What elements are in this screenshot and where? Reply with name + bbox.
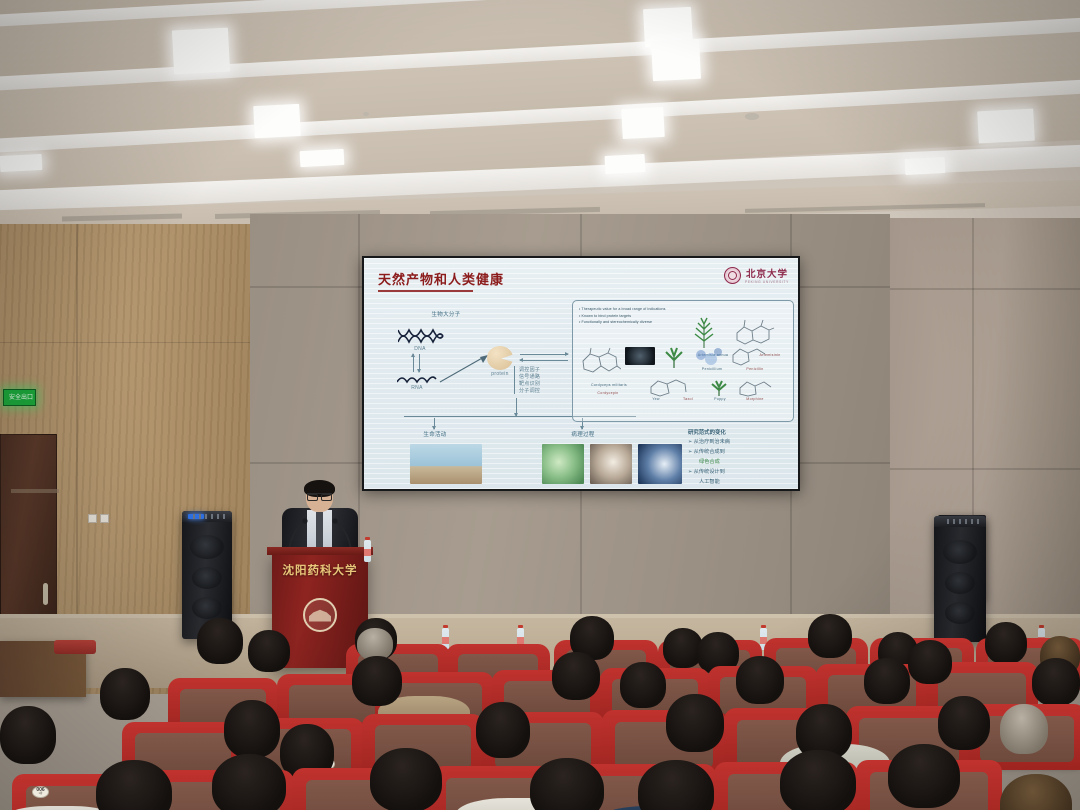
seat-row: 1排 [38,793,42,796]
seat-number-badge: 006 1排 [32,786,49,798]
audience-head [1032,658,1080,706]
slide-title-underline [378,290,473,292]
paradigm-item-text: 绿色合成 [699,458,720,465]
speaker-cone [943,540,977,564]
paradigm-heading: 研究范式的变化 [688,428,726,436]
door-plate [11,489,59,493]
chevron-bullet-icon: ➢ [688,449,692,455]
ceiling-light-panel [621,107,665,139]
source-organism-label: Cordyceps militaris [575,383,643,387]
audience-head [736,656,784,704]
dna-helix-icon [398,328,444,344]
auditorium-door[interactable] [0,434,57,634]
ceiling-sprinkler [363,112,369,116]
ceiling-light-panel [172,28,230,75]
paradigm-item-text: 从传统设计到 [694,469,725,475]
taxol-structure-icon [645,375,691,397]
rna-label: RNA [400,385,434,391]
arrow-protein-left [520,360,568,361]
photo-brain [638,444,682,484]
paradigm-item: ➢ 从传统设计到 [688,468,725,475]
audience-head [808,614,852,658]
audience-head [248,630,290,672]
audience-head [888,744,960,808]
audience-head [780,750,856,810]
ceiling-light-panel [300,149,345,167]
audience-head [100,668,150,720]
audience-head [530,758,604,810]
speaker-control-knobs[interactable] [193,514,227,519]
pku-seal-icon [724,267,741,284]
audience-head [864,658,910,704]
audience-head [197,618,243,664]
penicillin-skeleton-icon [729,343,769,367]
bottle-label [364,549,371,557]
audience-head [224,700,280,758]
audience-head [666,694,724,752]
speaker-cone [192,567,222,589]
speaker-cone [190,535,224,559]
biomacromolecule-heading: 生物大分子 [416,310,476,318]
speaker-cone [945,572,975,594]
cordycepin-structure-icon [579,347,621,373]
audience-head [0,706,56,764]
source-compound-label: Taxol [671,397,705,401]
audience-head [370,748,442,810]
arrow-protein-right [520,354,568,355]
ceiling-light-panel [651,39,701,81]
ceiling-light-panel [905,157,946,175]
speaker-top-panel [934,516,986,527]
presenter-glasses [307,493,332,498]
audience-head [985,622,1027,664]
regulation-notes: 调控因子 信号通路 靶点识别 分子调控 [514,366,540,394]
photo-cordyceps [625,347,655,365]
pku-logo-english: PEKING UNIVERSITY [745,280,789,284]
podium-institution-name: 沈阳药科大学 [272,562,368,578]
paradigm-item-text: 人工智能 [699,478,720,485]
pku-logo: 北京大学 PEKING UNIVERSITY [724,266,789,284]
photo-virus [542,444,584,484]
auditorium-scene: 安全出口 天然产物和人类健康 北京大学 PEKING UNIVERSITY 生物… [0,0,1080,810]
note-item: 调控因子 [519,366,540,373]
note-item: 分子调控 [519,387,540,394]
artemisinin-structure-icon [731,317,775,345]
dna-label: DNA [402,346,438,352]
ceiling [0,0,1080,236]
source-compound-label: Morphine [735,397,775,401]
artemisia-plant-icon [689,315,719,349]
life-activity-label: 生命活动 [406,430,464,438]
speaker-top-panel [182,511,232,522]
note-item: 靶点识别 [519,380,540,387]
paradigm-item: ➢ 从传统合成到 [688,448,725,455]
paradigm-item-text: 从传统合成到 [694,449,725,455]
exit-sign-label: 安全出口 [9,395,33,401]
water-bottle-podium[interactable] [364,540,371,562]
door-handle-icon[interactable] [43,583,48,605]
wall-switch[interactable] [88,514,97,523]
speaker-control-knobs[interactable] [947,519,981,524]
emergency-exit-sign: 安全出口 [3,389,36,406]
audience-head [352,656,402,706]
rna-strand-icon [397,374,437,384]
chevron-bullet-icon: ➢ [688,439,692,445]
ceiling-smoke-detector [745,113,759,120]
arrow-to-life-activity [434,418,435,429]
source-organism-label: Yew [639,397,673,401]
audience-head [908,640,952,684]
poppy-plant-icon [709,379,729,397]
audience-head [552,652,600,700]
chevron-bullet-icon: ➢ [688,469,692,475]
np-bullet: • Therapeutic value for a broad range of… [579,306,787,313]
morphine-structure-icon [735,377,775,397]
audience-seating: 019 5排 012 3排 021 6排 [0,610,1080,810]
photo-runner [410,444,482,484]
paradigm-item-text: 从治疗到治未病 [694,439,730,445]
audience-head [938,696,990,750]
pku-logo-name: 北京大学 [746,266,788,280]
wall-seam [890,468,1080,470]
penicillin-structure-icon [691,345,725,369]
arrow-rna-to-protein [438,354,490,384]
bottle-cap-icon [365,537,370,540]
audience-head [1000,704,1048,754]
audience-head [620,662,666,708]
arrow-rna-to-dna [419,354,420,372]
arrow-dna-to-rna [413,354,414,372]
wall-seam [0,342,250,343]
ceiling-light-panel [977,109,1035,144]
cordyceps-plant-icon [663,347,685,369]
source-compound-label: Cordycepin [577,391,639,395]
source-organism-label: Poppy [703,397,737,401]
ceiling-light-panel [605,154,646,174]
projection-screen: 天然产物和人类健康 北京大学 PEKING UNIVERSITY 生物大分子 D… [362,256,800,491]
photo-cell [590,444,632,484]
note-item: 信号通路 [519,373,540,380]
arrow-to-baseline [516,398,517,416]
presentation-slide: 天然产物和人类健康 北京大学 PEKING UNIVERSITY 生物大分子 D… [364,258,798,489]
protein-label: protein [482,371,518,377]
podium-top [267,547,373,555]
pathology-label: 病理过程 [554,430,612,438]
wall-seam [890,288,1080,290]
natural-products-box: • Therapeutic value for a broad range of… [572,300,794,422]
slide-title: 天然产物和人类健康 [378,269,504,288]
wall-switch[interactable] [100,514,109,523]
paradigm-item: ➢ 从治疗到治未病 [688,438,730,445]
source-compound-label: Penicillin [733,367,777,371]
audience-head [212,754,286,810]
audience-head [476,702,530,758]
audience-head [1000,774,1072,810]
ceiling-light-panel [0,154,42,172]
source-organism-label: Penicillium [689,367,735,371]
ceiling-light-panel [253,104,301,138]
